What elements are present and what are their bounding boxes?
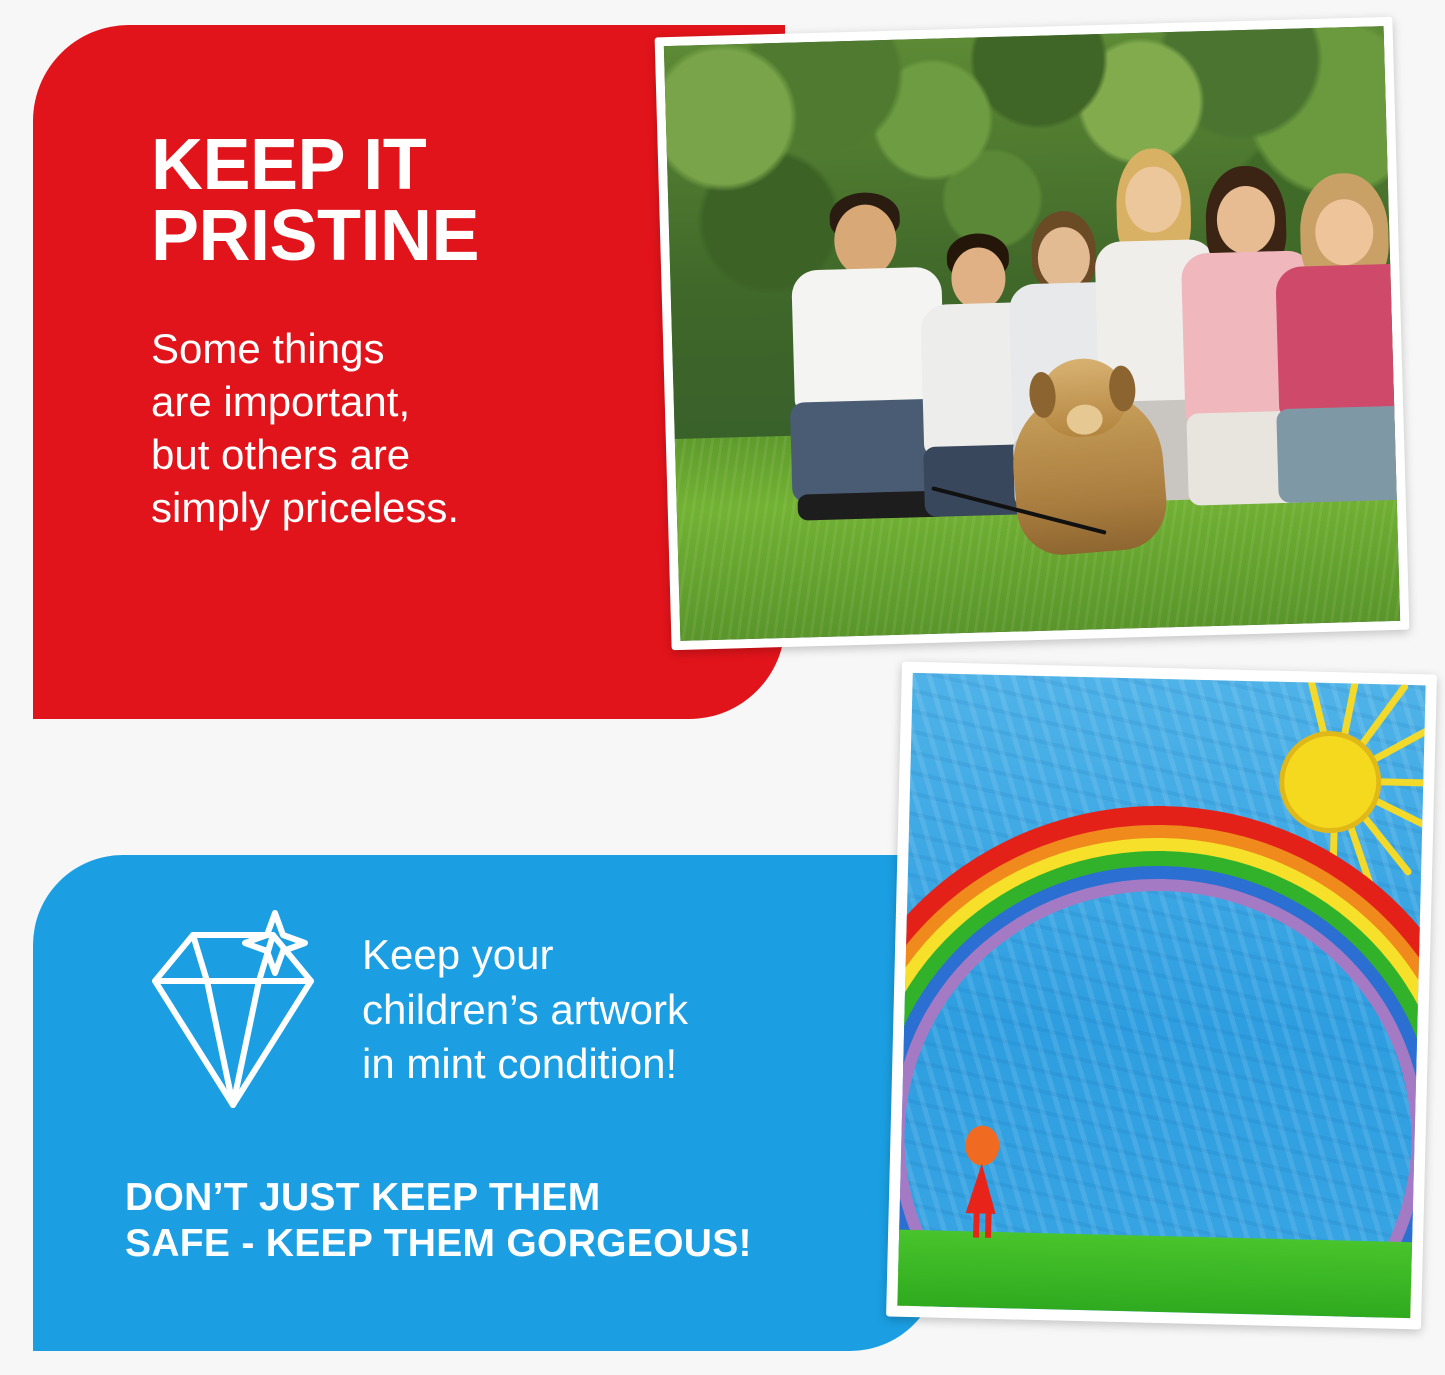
blue-body-line-3: in mint condition! — [362, 1037, 688, 1092]
headline-line-1: KEEP IT — [151, 125, 426, 205]
childrens-rainbow-drawing-photo — [886, 662, 1437, 1330]
drawing-scene — [897, 673, 1425, 1318]
child-figure-drawing — [955, 1125, 1012, 1236]
blue-body-line-1: Keep your — [362, 928, 688, 983]
legs — [1277, 405, 1401, 503]
family-photo-scene — [664, 26, 1400, 641]
figure-head — [965, 1125, 1000, 1166]
diamond-icon — [125, 903, 340, 1133]
mint-condition-panel: Keep your children’s artwork in mint con… — [33, 855, 940, 1351]
blue-footer-line-1: DON’T JUST KEEP THEM — [125, 1175, 940, 1221]
family-with-dog-photo — [655, 17, 1410, 650]
dog-snout — [1066, 403, 1104, 436]
blue-body-line-2: children’s artwork — [362, 983, 688, 1038]
figure-leg-left — [973, 1211, 980, 1237]
blue-panel-top-row: Keep your children’s artwork in mint con… — [33, 855, 940, 1133]
person-girl-3 — [1258, 171, 1400, 506]
figure-leg-right — [985, 1212, 992, 1238]
blue-footer-line-2: SAFE - KEEP THEM GORGEOUS! — [125, 1221, 940, 1267]
torso — [1276, 263, 1401, 417]
blue-panel-body-text: Keep your children’s artwork in mint con… — [362, 928, 688, 1108]
grass-ground — [897, 1230, 1412, 1319]
blue-panel-footer-text: DON’T JUST KEEP THEM SAFE - KEEP THEM GO… — [33, 1133, 940, 1267]
figure-body — [966, 1163, 997, 1214]
